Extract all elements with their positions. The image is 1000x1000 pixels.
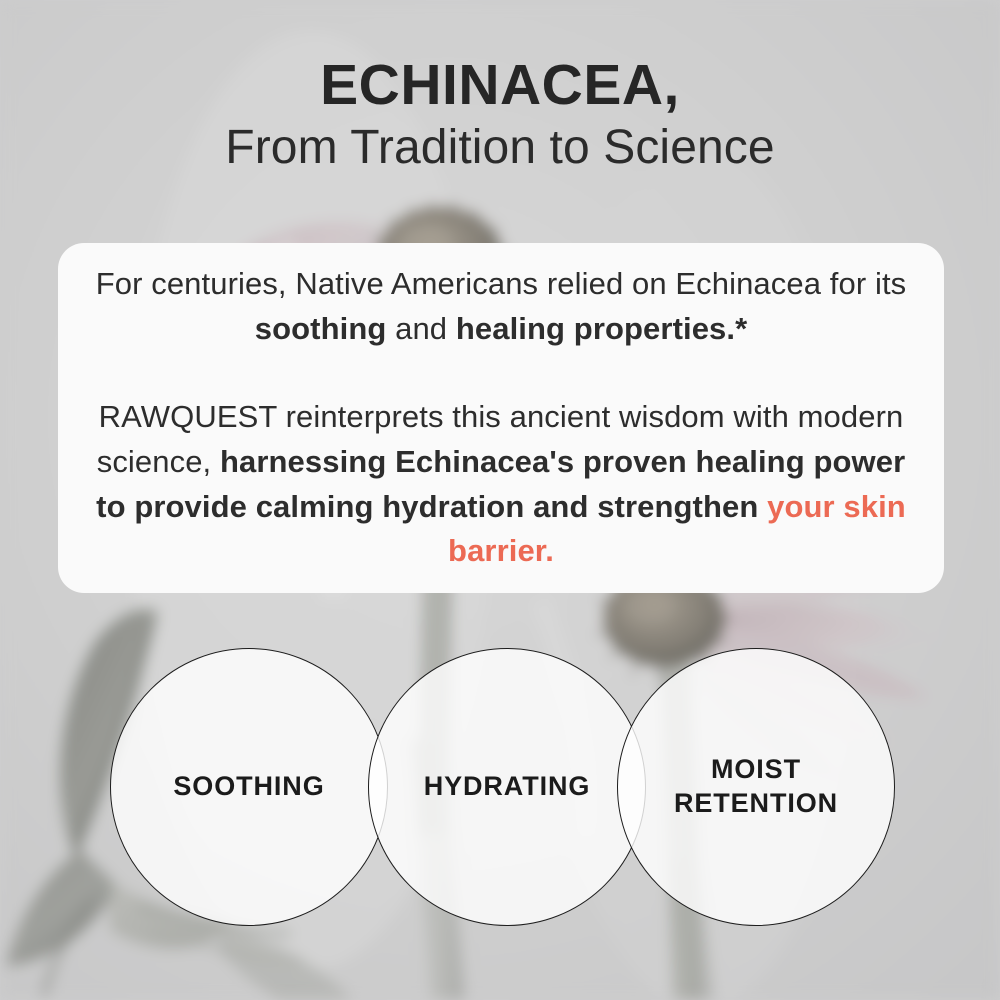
benefit-circle-soothing[interactable]: SOOTHING [110,648,388,926]
header: ECHINACEA, From Tradition to Science [0,56,1000,176]
paragraph-heritage: For centuries, Native Americans relied o… [92,262,910,351]
text-segment: healing properties.* [456,311,747,346]
infographic-root: ECHINACEA, From Tradition to Science For… [0,0,1000,1000]
page-title: ECHINACEA, [0,56,1000,115]
benefit-circles: SOOTHING HYDRATING MOIST RETENTION [0,648,1000,928]
text-segment: soothing [255,311,387,346]
benefit-label: SOOTHING [173,770,324,804]
description-card: For centuries, Native Americans relied o… [58,243,944,593]
benefit-circle-hydrating[interactable]: HYDRATING [368,648,646,926]
paragraph-science: RAWQUEST reinterprets this ancient wisdo… [92,395,910,574]
benefit-label: MOIST RETENTION [674,753,838,821]
benefit-circle-moist-retention[interactable]: MOIST RETENTION [617,648,895,926]
benefit-label: HYDRATING [424,770,591,804]
page-subtitle: From Tradition to Science [0,120,1000,177]
text-segment: and [386,311,455,346]
text-segment: For centuries, Native Americans relied o… [96,266,907,301]
